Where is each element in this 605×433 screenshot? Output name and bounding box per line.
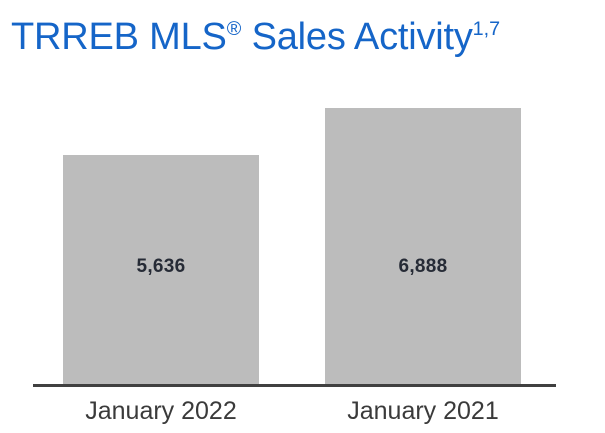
- slide-canvas: TRREB MLS® Sales Activity1,7 5,636 6,888…: [0, 0, 605, 433]
- bar-column-january-2022: 5,636: [63, 155, 259, 384]
- bar-january-2021: 6,888: [325, 108, 521, 384]
- bar-value-label: 6,888: [325, 256, 521, 278]
- chart-plot-area: 5,636 6,888 January 2022 January 2021: [0, 60, 605, 433]
- bar-column-january-2021: 6,888: [325, 108, 521, 384]
- bar-january-2022: 5,636: [63, 155, 259, 384]
- title-main-text: TRREB MLS: [11, 16, 227, 58]
- registered-trademark-icon: ®: [227, 18, 242, 40]
- title-rest-text: Sales Activity: [241, 16, 472, 58]
- x-axis-category-label-january-2022: January 2022: [41, 394, 281, 428]
- bar-value-label: 5,636: [63, 256, 259, 278]
- x-axis-category-label-january-2021: January 2021: [303, 394, 543, 428]
- page-title: TRREB MLS® Sales Activity1,7: [11, 5, 605, 57]
- x-axis-line: [33, 384, 556, 387]
- title-footnote-superscript: 1,7: [473, 18, 500, 40]
